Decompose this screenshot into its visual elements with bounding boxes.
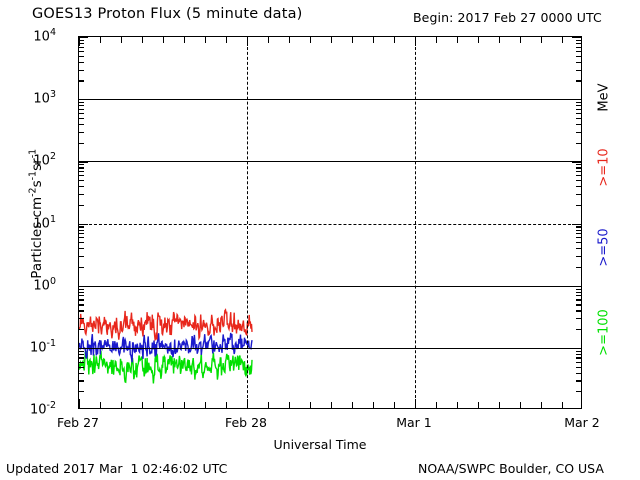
- x-minor-tick-bottom: [457, 402, 458, 408]
- y-minor-tick-right: [576, 171, 581, 172]
- x-minor-tick: [121, 37, 122, 43]
- source-label: NOAA/SWPC Boulder, CO USA: [418, 461, 604, 476]
- legend-entry-2: >=100: [597, 298, 612, 368]
- y-minor-tick: [79, 256, 84, 257]
- y-minor-tick-right: [576, 267, 581, 268]
- y-minor-tick-right: [576, 194, 581, 195]
- y-minor-tick: [79, 233, 84, 234]
- updated-timestamp: Updated 2017 Mar 1 02:46:02 UTC: [6, 461, 227, 476]
- y-minor-tick: [79, 292, 84, 293]
- x-minor-tick-bottom: [541, 402, 542, 408]
- x-minor-tick-bottom: [331, 402, 332, 408]
- y-major-tick: [79, 286, 88, 287]
- y-tick-label: 104: [33, 27, 56, 44]
- legend-entry-0: >=10: [597, 133, 612, 203]
- y-minor-tick-right: [576, 47, 581, 48]
- y-minor-tick: [79, 205, 84, 206]
- x-minor-tick-bottom: [205, 402, 206, 408]
- y-minor-tick-right: [576, 299, 581, 300]
- y-minor-tick-right: [576, 351, 581, 352]
- y-minor-tick-right: [576, 304, 581, 305]
- y-minor-tick: [79, 56, 84, 57]
- gridline-solid: [79, 99, 581, 100]
- y-axis-exp-1: -2: [27, 187, 38, 196]
- y-minor-tick-right: [576, 62, 581, 63]
- y-minor-tick: [79, 180, 84, 181]
- y-major-tick: [79, 37, 88, 38]
- legend-entry-1: >=50: [597, 213, 612, 283]
- x-tick-label: Mar 2: [542, 415, 622, 430]
- y-major-tick-right: [572, 286, 581, 287]
- y-minor-tick: [79, 242, 84, 243]
- y-minor-tick: [79, 380, 84, 381]
- gridline-solid: [79, 286, 581, 287]
- x-minor-tick: [436, 37, 437, 43]
- x-minor-tick-bottom: [163, 402, 164, 408]
- y-minor-tick: [79, 351, 84, 352]
- plot-area: [78, 36, 582, 409]
- x-minor-tick: [520, 37, 521, 43]
- x-major-tick-bottom: [415, 399, 416, 408]
- y-minor-tick: [79, 237, 84, 238]
- y-tick-label: 103: [33, 89, 56, 106]
- y-minor-tick-right: [576, 295, 581, 296]
- x-minor-tick-bottom: [394, 402, 395, 408]
- y-minor-tick: [79, 143, 84, 144]
- x-minor-tick-bottom: [562, 402, 563, 408]
- gridline-solid: [79, 348, 581, 349]
- y-minor-tick-right: [576, 237, 581, 238]
- y-minor-tick-right: [576, 40, 581, 41]
- y-minor-tick: [79, 124, 84, 125]
- x-tick-label: Feb 28: [206, 415, 286, 430]
- y-minor-tick: [79, 267, 84, 268]
- y-minor-tick-right: [576, 132, 581, 133]
- y-tick-label: 10-1: [30, 338, 56, 355]
- y-major-tick-right: [572, 161, 581, 162]
- y-minor-tick: [79, 51, 84, 52]
- y-minor-tick-right: [576, 105, 581, 106]
- y-minor-tick-right: [576, 70, 581, 71]
- y-minor-tick: [79, 295, 84, 296]
- y-minor-tick-right: [576, 292, 581, 293]
- x-major-tick: [415, 37, 416, 46]
- x-minor-tick-bottom: [121, 402, 122, 408]
- x-minor-tick-bottom: [520, 402, 521, 408]
- y-minor-tick-right: [576, 143, 581, 144]
- y-minor-tick-right: [576, 380, 581, 381]
- y-minor-tick: [79, 102, 84, 103]
- y-minor-tick-right: [576, 373, 581, 374]
- x-minor-tick-bottom: [142, 402, 143, 408]
- y-major-tick: [79, 99, 88, 100]
- page-title: GOES13 Proton Flux (5 minute data): [32, 6, 303, 22]
- y-major-tick-right: [572, 348, 581, 349]
- y-minor-tick-right: [576, 113, 581, 114]
- x-minor-tick: [562, 37, 563, 43]
- x-minor-tick-bottom: [373, 402, 374, 408]
- x-minor-tick: [226, 37, 227, 43]
- x-axis-title: Universal Time: [0, 437, 640, 452]
- x-minor-tick: [205, 37, 206, 43]
- y-minor-tick-right: [576, 256, 581, 257]
- y-minor-tick: [79, 62, 84, 63]
- y-minor-tick: [79, 226, 84, 227]
- y-minor-tick-right: [576, 124, 581, 125]
- x-minor-tick-bottom: [478, 402, 479, 408]
- y-minor-tick: [79, 318, 84, 319]
- y-minor-tick-right: [576, 205, 581, 206]
- y-minor-tick-right: [576, 167, 581, 168]
- x-minor-tick: [352, 37, 353, 43]
- y-major-tick: [79, 161, 88, 162]
- y-minor-tick: [79, 362, 84, 363]
- y-minor-tick-right: [576, 233, 581, 234]
- y-tick-label: 101: [33, 214, 56, 231]
- y-minor-tick: [79, 70, 84, 71]
- y-axis-title-s: s: [29, 180, 45, 187]
- x-minor-tick: [457, 37, 458, 43]
- y-axis-title-text: Particles cm: [29, 197, 45, 279]
- data-traces: [79, 37, 581, 408]
- y-minor-tick: [79, 373, 84, 374]
- y-minor-tick: [79, 194, 84, 195]
- y-minor-tick-right: [576, 289, 581, 290]
- y-minor-tick: [79, 105, 84, 106]
- y-minor-tick: [79, 248, 84, 249]
- gridline-solid: [79, 161, 581, 162]
- y-minor-tick: [79, 367, 84, 368]
- y-minor-tick: [79, 80, 84, 81]
- y-minor-tick: [79, 47, 84, 48]
- x-minor-tick: [478, 37, 479, 43]
- gridline-dashed-threshold: [79, 224, 581, 225]
- y-minor-tick-right: [576, 318, 581, 319]
- x-minor-tick: [310, 37, 311, 43]
- y-minor-tick: [79, 175, 84, 176]
- y-minor-tick-right: [576, 80, 581, 81]
- y-minor-tick: [79, 171, 84, 172]
- x-major-tick: [79, 37, 80, 46]
- y-minor-tick-right: [576, 391, 581, 392]
- y-minor-tick: [79, 304, 84, 305]
- x-minor-tick: [331, 37, 332, 43]
- x-minor-tick-bottom: [352, 402, 353, 408]
- y-minor-tick: [79, 391, 84, 392]
- x-minor-tick-bottom: [310, 402, 311, 408]
- y-minor-tick-right: [576, 109, 581, 110]
- y-minor-tick: [79, 329, 84, 330]
- x-minor-tick-bottom: [499, 402, 500, 408]
- y-minor-tick-right: [576, 186, 581, 187]
- y-minor-tick: [79, 109, 84, 110]
- x-minor-tick: [499, 37, 500, 43]
- y-minor-tick: [79, 230, 84, 231]
- y-major-tick: [79, 348, 88, 349]
- y-minor-tick: [79, 164, 84, 165]
- y-minor-tick-right: [576, 367, 581, 368]
- y-minor-tick-right: [576, 164, 581, 165]
- x-major-tick: [247, 37, 248, 46]
- y-minor-tick: [79, 113, 84, 114]
- x-major-tick-bottom: [247, 399, 248, 408]
- x-minor-tick: [373, 37, 374, 43]
- y-minor-tick-right: [576, 43, 581, 44]
- trace--100-mev: [79, 351, 252, 384]
- x-minor-tick-bottom: [184, 402, 185, 408]
- x-minor-tick-bottom: [436, 402, 437, 408]
- y-minor-tick-right: [576, 329, 581, 330]
- y-major-tick-right: [572, 224, 581, 225]
- plot-clip: [79, 37, 581, 408]
- y-minor-tick: [79, 357, 84, 358]
- y-tick-label: 102: [33, 151, 56, 168]
- y-minor-tick-right: [576, 362, 581, 363]
- x-minor-tick-bottom: [289, 402, 290, 408]
- x-minor-tick-bottom: [226, 402, 227, 408]
- y-minor-tick: [79, 118, 84, 119]
- y-minor-tick: [79, 354, 84, 355]
- x-tick-label: Mar 1: [374, 415, 454, 430]
- y-major-tick-right: [572, 37, 581, 38]
- y-minor-tick-right: [576, 102, 581, 103]
- x-tick-label: Feb 27: [38, 415, 118, 430]
- x-minor-tick: [163, 37, 164, 43]
- y-minor-tick: [79, 132, 84, 133]
- x-minor-tick-bottom: [100, 402, 101, 408]
- x-major-tick-bottom: [79, 399, 80, 408]
- y-axis-exp-2: -1: [27, 171, 38, 180]
- y-minor-tick-right: [576, 354, 581, 355]
- x-minor-tick: [268, 37, 269, 43]
- y-tick-label: 100: [33, 276, 56, 293]
- x-minor-tick: [142, 37, 143, 43]
- y-minor-tick-right: [576, 51, 581, 52]
- legend-unit: MeV: [597, 63, 612, 133]
- x-minor-tick: [541, 37, 542, 43]
- x-minor-tick: [184, 37, 185, 43]
- y-minor-tick-right: [576, 175, 581, 176]
- x-minor-tick-bottom: [268, 402, 269, 408]
- x-minor-tick: [289, 37, 290, 43]
- trace--10-mev: [79, 310, 252, 340]
- y-minor-tick-right: [576, 248, 581, 249]
- x-minor-tick: [394, 37, 395, 43]
- y-minor-tick: [79, 299, 84, 300]
- x-minor-tick: [100, 37, 101, 43]
- day-boundary-line: [415, 37, 416, 408]
- y-minor-tick: [79, 186, 84, 187]
- y-major-tick-right: [572, 99, 581, 100]
- y-minor-tick: [79, 310, 84, 311]
- y-minor-tick-right: [576, 242, 581, 243]
- begin-time-label: Begin: 2017 Feb 27 0000 UTC: [413, 10, 602, 25]
- y-minor-tick-right: [576, 180, 581, 181]
- y-minor-tick-right: [576, 230, 581, 231]
- y-minor-tick-right: [576, 357, 581, 358]
- y-minor-tick: [79, 289, 84, 290]
- y-minor-tick-right: [576, 310, 581, 311]
- y-minor-tick-right: [576, 226, 581, 227]
- y-minor-tick-right: [576, 118, 581, 119]
- y-minor-tick: [79, 167, 84, 168]
- day-boundary-line: [247, 37, 248, 408]
- y-minor-tick-right: [576, 56, 581, 57]
- y-major-tick: [79, 224, 88, 225]
